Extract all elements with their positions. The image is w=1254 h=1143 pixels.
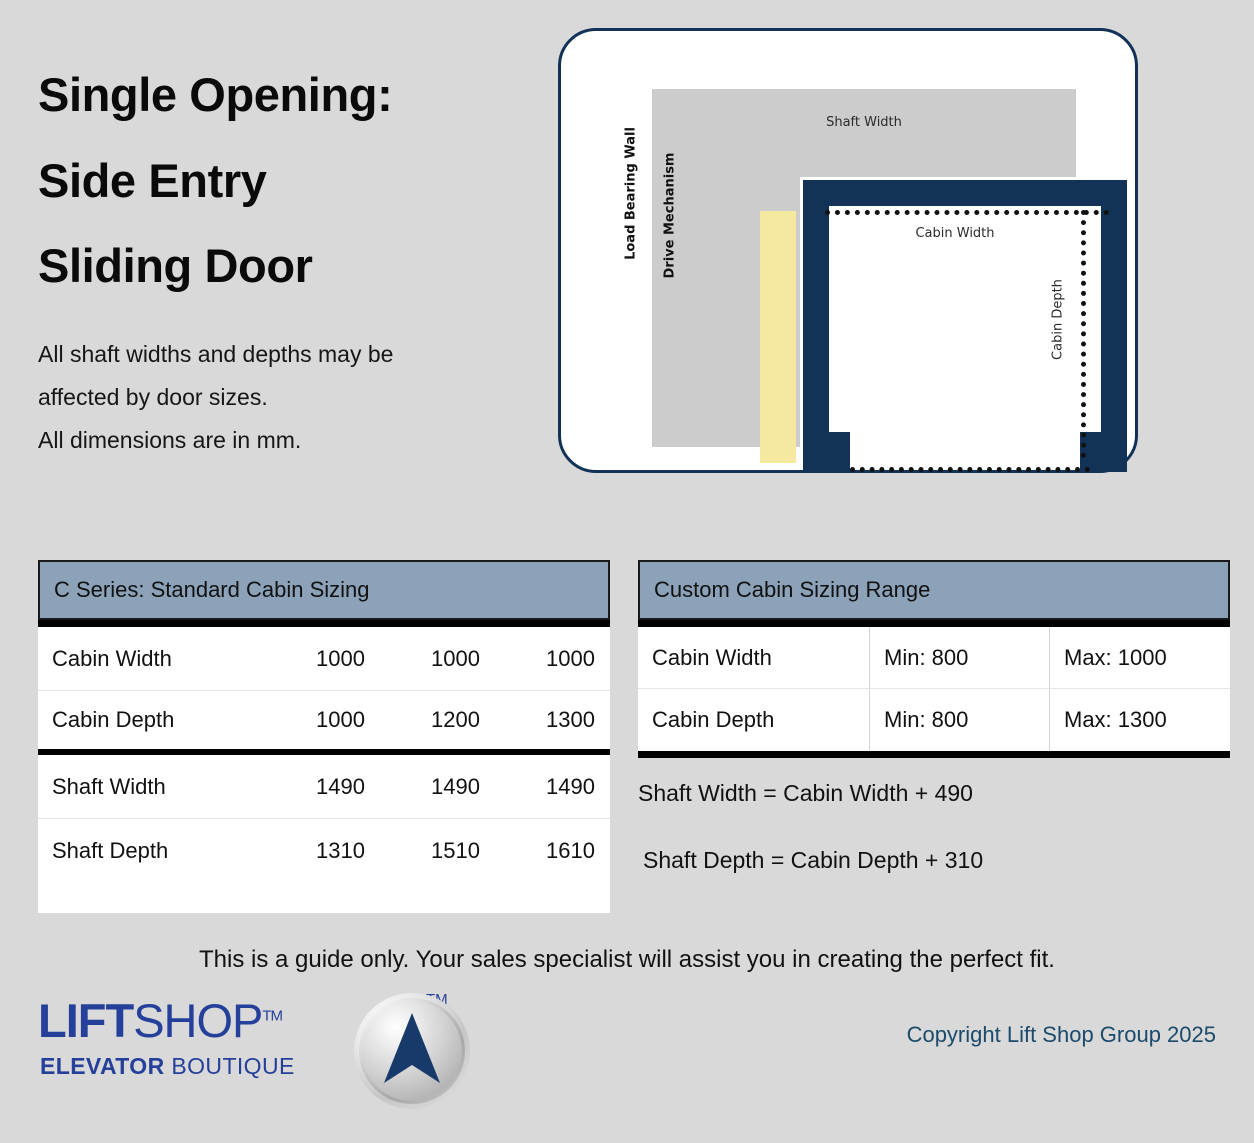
table-row: Cabin Width Min: 800 Max: 1000 bbox=[638, 627, 1230, 689]
shaft-outline: Shaft Width Door Shaft Depth Drive Mecha… bbox=[652, 89, 1076, 447]
cabin-wall-top bbox=[803, 180, 1127, 206]
logo-tagline: ELEVATOR BOUTIQUE bbox=[40, 1053, 295, 1080]
guide-disclaimer: This is a guide only. Your sales special… bbox=[0, 946, 1254, 974]
formula-block: Shaft Width = Cabin Width + 490 Shaft De… bbox=[638, 780, 1238, 914]
title-line-1: Single Opening: bbox=[38, 52, 538, 138]
row-max: Max: 1000 bbox=[1050, 627, 1230, 688]
row-min: Min: 800 bbox=[870, 689, 1050, 751]
label-load-bearing-wall: Load Bearing Wall bbox=[624, 94, 639, 294]
row-value: 1000 bbox=[379, 646, 494, 672]
cabin-door-jamb-left bbox=[803, 432, 850, 472]
copyright-text: Copyright Lift Shop Group 2025 bbox=[0, 1022, 1216, 1048]
label-shaft-width: Shaft Width bbox=[652, 115, 1076, 130]
row-value: 1490 bbox=[379, 774, 494, 800]
standard-sizing-table: C Series: Standard Cabin Sizing Cabin Wi… bbox=[38, 560, 610, 913]
table-row: Shaft Depth 1310 1510 1610 bbox=[38, 819, 610, 883]
logo-tagline-boutique: BOUTIQUE bbox=[171, 1053, 294, 1079]
row-value: 1000 bbox=[264, 646, 379, 672]
label-cabin-width: Cabin Width bbox=[833, 226, 1077, 241]
intro-note: All shaft widths and depths may be affec… bbox=[38, 333, 538, 463]
table-row: Cabin Depth Min: 800 Max: 1300 bbox=[638, 689, 1230, 751]
custom-sizing-table: Custom Cabin Sizing Range Cabin Width Mi… bbox=[638, 560, 1230, 758]
page-title: Single Opening: Side Entry Sliding Door bbox=[38, 52, 538, 309]
cabin-dimension-line-top bbox=[825, 210, 1109, 215]
custom-sizing-table-body: Cabin Width Min: 800 Max: 1000 Cabin Dep… bbox=[638, 627, 1230, 751]
intro-note-line-2: affected by door sizes. bbox=[38, 376, 538, 419]
cabin-wall-left bbox=[803, 180, 829, 472]
row-value: 1300 bbox=[494, 707, 609, 733]
formula-shaft-depth: Shaft Depth = Cabin Depth + 310 bbox=[638, 847, 1238, 874]
header-rule bbox=[38, 620, 610, 627]
row-value: 1000 bbox=[494, 646, 609, 672]
title-line-3: Sliding Door bbox=[38, 223, 538, 309]
shaft-plan-diagram: Load Bearing Wall Shaft Width Door Shaft… bbox=[558, 28, 1138, 473]
title-line-2: Side Entry bbox=[38, 138, 538, 224]
row-max: Max: 1300 bbox=[1050, 689, 1230, 751]
formula-shaft-width: Shaft Width = Cabin Width + 490 bbox=[638, 780, 1238, 807]
label-drive-mechanism: Drive Mechanism bbox=[663, 136, 678, 296]
intro-note-line-1: All shaft widths and depths may be bbox=[38, 333, 538, 376]
drive-mechanism-block bbox=[760, 211, 796, 463]
row-label: Cabin Width bbox=[638, 627, 870, 688]
cabin-dimension-line-bottom bbox=[850, 467, 1090, 472]
row-label: Shaft Depth bbox=[38, 838, 264, 864]
row-label: Cabin Depth bbox=[38, 707, 264, 733]
row-value: 1490 bbox=[264, 774, 379, 800]
table-row: Cabin Width 1000 1000 1000 bbox=[38, 627, 610, 691]
row-value: 1510 bbox=[379, 838, 494, 864]
custom-sizing-table-header: Custom Cabin Sizing Range bbox=[638, 560, 1230, 620]
row-label: Cabin Width bbox=[38, 646, 264, 672]
cabin-structure: Cabin Width Cabin Depth bbox=[800, 177, 1124, 469]
footer-rule bbox=[638, 751, 1230, 758]
cabin-door-jamb-right bbox=[1080, 432, 1127, 472]
logo-orb-icon bbox=[354, 993, 470, 1109]
row-value: 1490 bbox=[494, 774, 609, 800]
row-value: 1200 bbox=[379, 707, 494, 733]
row-label: Shaft Width bbox=[38, 774, 264, 800]
table-row: Cabin Depth 1000 1200 1300 bbox=[38, 691, 610, 755]
cabin-dimension-line-right bbox=[1081, 210, 1086, 458]
row-value: 1000 bbox=[264, 707, 379, 733]
table-row: Shaft Width 1490 1490 1490 bbox=[38, 755, 610, 819]
standard-sizing-table-body: Cabin Width 1000 1000 1000 Cabin Depth 1… bbox=[38, 627, 610, 913]
liftshop-logo: LIFTSHOPTM TM ELEVATOR BOUTIQUE bbox=[38, 993, 458, 1103]
cabin-wall-right bbox=[1101, 180, 1127, 472]
row-min: Min: 800 bbox=[870, 627, 1050, 688]
row-value: 1610 bbox=[494, 838, 609, 864]
row-value: 1310 bbox=[264, 838, 379, 864]
standard-sizing-table-header: C Series: Standard Cabin Sizing bbox=[38, 560, 610, 620]
intro-note-line-3: All dimensions are in mm. bbox=[38, 419, 538, 462]
header-rule bbox=[638, 620, 1230, 627]
label-cabin-depth: Cabin Depth bbox=[1051, 250, 1066, 390]
logo-tagline-elevator: ELEVATOR bbox=[40, 1053, 165, 1079]
row-label: Cabin Depth bbox=[638, 689, 870, 751]
